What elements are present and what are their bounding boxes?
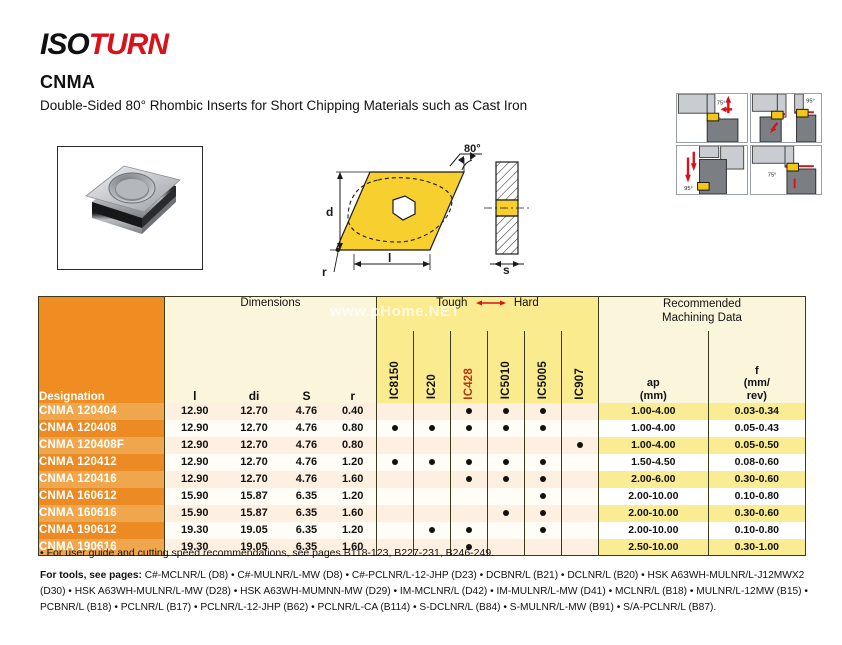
cell-grade-ic5005 <box>524 420 561 437</box>
grade-available-dot <box>577 442 583 448</box>
brand-logo-iso: ISO <box>40 28 89 61</box>
cell-dim-r: 0.80 <box>329 437 376 454</box>
f-unit-line2: rev) <box>747 390 767 402</box>
cell-ap: 1.50-4.50 <box>598 454 708 471</box>
cell-dim-l: 19.30 <box>165 522 225 539</box>
cell-designation: CNMA 190612 <box>39 522 165 539</box>
tough-hard-arrow-icon <box>476 299 506 307</box>
cell-f: 0.05-0.50 <box>708 437 805 454</box>
table-row: CNMA 120408F12.9012.704.760.801.00-4.000… <box>39 437 806 454</box>
table-row: CNMA 12040412.9012.704.760.401.00-4.000.… <box>39 403 806 420</box>
cell-dim-di: 15.87 <box>225 488 284 505</box>
col-header-s: S <box>284 331 330 403</box>
cell-dim-s: 4.76 <box>284 471 330 488</box>
cell-grade-ic5010 <box>487 471 524 488</box>
f-symbol: f <box>755 365 759 377</box>
machining-data-line2: Machining Data <box>662 312 742 324</box>
grade-available-dot <box>540 408 546 414</box>
grade-available-dot <box>503 459 509 465</box>
cell-grade-ic907 <box>561 505 598 522</box>
tool-app-2-icon: 95° <box>751 94 821 142</box>
cell-dim-di: 19.05 <box>225 522 284 539</box>
cell-grade-ic20 <box>413 505 450 522</box>
cell-dim-s: 4.76 <box>284 420 330 437</box>
cell-grade-ic907 <box>561 488 598 505</box>
diagram-label-d: d <box>326 205 333 219</box>
cell-dim-s: 4.76 <box>284 454 330 471</box>
diagram-label-r: r <box>322 265 327 279</box>
cell-grade-ic5005 <box>524 454 561 471</box>
grade-available-dot <box>503 510 509 516</box>
footnote-user-guide: • For user guide and cutting speed recom… <box>40 547 494 559</box>
grade-available-dot <box>466 425 472 431</box>
cell-ap: 1.00-4.00 <box>598 420 708 437</box>
cell-dim-di: 15.87 <box>225 505 284 522</box>
cell-f: 0.30-0.60 <box>708 471 805 488</box>
tool-app-1-icon: 75° <box>677 94 747 142</box>
page-title: CNMA <box>40 72 527 93</box>
table-row: CNMA 19061219.3019.056.351.202.00-10.000… <box>39 522 806 539</box>
grade-label-ic907: IC907 <box>574 368 586 400</box>
cell-grade-ic428 <box>450 471 487 488</box>
col-header-ap: ap (mm) <box>598 331 708 403</box>
col-group-grades: Tough Hard <box>376 297 598 331</box>
tool-app-3-icon: 95° <box>677 146 747 194</box>
col-group-machining-data: Recommended Machining Data <box>598 297 805 331</box>
grade-available-dot <box>540 510 546 516</box>
cell-dim-di: 12.70 <box>225 420 284 437</box>
cell-grade-ic428 <box>450 488 487 505</box>
cell-grade-ic5005 <box>524 437 561 454</box>
cell-grade-ic5010 <box>487 403 524 420</box>
cell-dim-l: 12.90 <box>165 471 225 488</box>
cell-dim-l: 12.90 <box>165 437 225 454</box>
cell-ap: 2.50-10.00 <box>598 539 708 556</box>
footnote-tools-label: For tools, see pages: <box>40 570 142 581</box>
tool-app-4-angle: 75° <box>768 173 777 179</box>
cell-f: 0.05-0.43 <box>708 420 805 437</box>
cell-grade-ic5010 <box>487 437 524 454</box>
tool-app-4: 75° <box>750 145 822 195</box>
cell-dim-l: 12.90 <box>165 420 225 437</box>
grade-label-ic428: IC428 <box>463 368 475 400</box>
cell-designation: CNMA 120404 <box>39 403 165 420</box>
grade-available-dot <box>466 527 472 533</box>
cell-f: 0.08-0.60 <box>708 454 805 471</box>
cell-f: 0.30-1.00 <box>708 539 805 556</box>
table-row: CNMA 12041212.9012.704.761.201.50-4.500.… <box>39 454 806 471</box>
cell-dim-r: 0.80 <box>329 420 376 437</box>
brand-logo-turn: TURN <box>89 28 168 61</box>
cell-ap: 1.00-4.00 <box>598 403 708 420</box>
table-head: Designation Dimensions Tough Hard Recomm… <box>39 297 806 403</box>
col-header-f: f (mm/ rev) <box>708 331 805 403</box>
cell-designation: CNMA 120416 <box>39 471 165 488</box>
col-header-grade-ic5010: IC5010 <box>487 331 524 403</box>
col-header-grade-ic8150: IC8150 <box>376 331 413 403</box>
cell-grade-ic428 <box>450 505 487 522</box>
table-row: CNMA 12041612.9012.704.761.602.00-6.000.… <box>39 471 806 488</box>
cell-ap: 2.00-10.00 <box>598 505 708 522</box>
grade-available-dot <box>540 425 546 431</box>
grade-available-dot <box>503 425 509 431</box>
cell-grade-ic8150 <box>376 505 413 522</box>
cell-dim-r: 1.20 <box>329 522 376 539</box>
grade-label-ic5005: IC5005 <box>537 361 549 399</box>
cell-grade-ic5010 <box>487 488 524 505</box>
cell-f: 0.30-0.60 <box>708 505 805 522</box>
cell-grade-ic428 <box>450 522 487 539</box>
cell-designation: CNMA 120408 <box>39 420 165 437</box>
grade-available-dot <box>429 425 435 431</box>
table-header-group-row: Designation Dimensions Tough Hard Recomm… <box>39 297 806 331</box>
grade-available-dot <box>466 408 472 414</box>
tool-app-2: 95° <box>750 93 822 143</box>
cell-grade-ic8150 <box>376 454 413 471</box>
grade-available-dot <box>429 527 435 533</box>
footnote-tools-text: C#-MCLNR/L (D8) • C#-MULNR/L-MW (D8) • C… <box>40 570 808 613</box>
cell-dim-di: 12.70 <box>225 471 284 488</box>
cell-grade-ic907 <box>561 420 598 437</box>
cell-dim-di: 12.70 <box>225 403 284 420</box>
cell-dim-s: 6.35 <box>284 522 330 539</box>
table-row: CNMA 16061615.9015.876.351.602.00-10.000… <box>39 505 806 522</box>
cell-designation: CNMA 160616 <box>39 505 165 522</box>
insert-photo-image <box>64 156 196 260</box>
col-header-r: r <box>329 331 376 403</box>
cell-dim-r: 0.40 <box>329 403 376 420</box>
col-header-l: l <box>165 331 225 403</box>
tool-app-4-icon: 75° <box>751 146 821 194</box>
cell-grade-ic8150 <box>376 522 413 539</box>
grade-available-dot <box>503 408 509 414</box>
col-header-grade-ic20: IC20 <box>413 331 450 403</box>
cell-dim-l: 12.90 <box>165 403 225 420</box>
table-row: CNMA 12040812.9012.704.760.801.00-4.000.… <box>39 420 806 437</box>
cell-grade-ic907 <box>561 539 598 556</box>
cell-designation: CNMA 120412 <box>39 454 165 471</box>
insert-section-view-svg: s <box>470 150 560 275</box>
cell-grade-ic20 <box>413 454 450 471</box>
cell-dim-l: 12.90 <box>165 454 225 471</box>
insert-photo <box>57 146 203 270</box>
grade-available-dot <box>392 459 398 465</box>
cell-grade-ic428 <box>450 454 487 471</box>
grade-available-dot <box>392 425 398 431</box>
ap-unit: (mm) <box>640 390 667 402</box>
grade-available-dot <box>540 493 546 499</box>
cell-dim-r: 1.60 <box>329 505 376 522</box>
cell-grade-ic20 <box>413 437 450 454</box>
cell-grade-ic907 <box>561 454 598 471</box>
cell-grade-ic20 <box>413 403 450 420</box>
cell-grade-ic907 <box>561 403 598 420</box>
cell-dim-di: 12.70 <box>225 437 284 454</box>
grade-available-dot <box>466 459 472 465</box>
cell-grade-ic20 <box>413 488 450 505</box>
cell-grade-ic907 <box>561 471 598 488</box>
cell-f: 0.10-0.80 <box>708 488 805 505</box>
ap-symbol: ap <box>647 377 660 389</box>
cell-grade-ic8150 <box>376 420 413 437</box>
cell-grade-ic5010 <box>487 454 524 471</box>
insert-section-view: s <box>470 150 560 275</box>
cell-grade-ic20 <box>413 420 450 437</box>
grade-group-tough: Tough <box>436 297 467 309</box>
cell-designation: CNMA 120408F <box>39 437 165 454</box>
cell-dim-l: 15.90 <box>165 488 225 505</box>
grade-label-ic20: IC20 <box>426 374 438 399</box>
grade-available-dot <box>540 527 546 533</box>
cell-ap: 1.00-4.00 <box>598 437 708 454</box>
cell-dim-r: 1.20 <box>329 454 376 471</box>
cell-dim-l: 15.90 <box>165 505 225 522</box>
cell-grade-ic5010 <box>487 522 524 539</box>
grade-available-dot <box>540 476 546 482</box>
col-group-dimensions: Dimensions <box>165 297 377 331</box>
cell-f: 0.10-0.80 <box>708 522 805 539</box>
brand-logo: ISOTURN <box>40 28 168 62</box>
cell-dim-r: 1.60 <box>329 471 376 488</box>
cell-grade-ic5010 <box>487 420 524 437</box>
tool-app-3: 95° <box>676 145 748 195</box>
col-header-designation: Designation <box>39 297 165 403</box>
cell-grade-ic8150 <box>376 471 413 488</box>
cell-grade-ic428 <box>450 437 487 454</box>
cell-designation: CNMA 160612 <box>39 488 165 505</box>
cell-ap: 2.00-6.00 <box>598 471 708 488</box>
grade-group-hard: Hard <box>514 297 539 309</box>
cell-grade-ic5005 <box>524 522 561 539</box>
cell-grade-ic20 <box>413 522 450 539</box>
cell-dim-s: 6.35 <box>284 505 330 522</box>
cell-grade-ic5005 <box>524 539 561 556</box>
cell-grade-ic8150 <box>376 403 413 420</box>
cell-grade-ic907 <box>561 522 598 539</box>
tool-app-2-angle: 95° <box>806 99 815 105</box>
cell-grade-ic20 <box>413 471 450 488</box>
cell-grade-ic5005 <box>524 471 561 488</box>
col-header-di: di <box>225 331 284 403</box>
cell-grade-ic5005 <box>524 488 561 505</box>
cell-grade-ic907 <box>561 437 598 454</box>
grade-label-ic5010: IC5010 <box>500 361 512 399</box>
diagram-label-s: s <box>503 263 510 275</box>
cell-grade-ic8150 <box>376 437 413 454</box>
cell-grade-ic5010 <box>487 505 524 522</box>
cell-grade-ic8150 <box>376 488 413 505</box>
cell-f: 0.03-0.34 <box>708 403 805 420</box>
grade-available-dot <box>540 459 546 465</box>
cell-dim-s: 6.35 <box>284 488 330 505</box>
machining-data-line1: Recommended <box>663 298 741 310</box>
cell-ap: 2.00-10.00 <box>598 522 708 539</box>
cell-grade-ic428 <box>450 403 487 420</box>
page-subtitle: Double-Sided 80° Rhombic Inserts for Sho… <box>40 98 527 113</box>
cell-dim-s: 4.76 <box>284 437 330 454</box>
f-unit-line1: (mm/ <box>744 377 770 389</box>
cell-dim-s: 4.76 <box>284 403 330 420</box>
cell-grade-ic428 <box>450 420 487 437</box>
tool-app-3-angle: 95° <box>684 186 693 192</box>
cell-dim-di: 12.70 <box>225 454 284 471</box>
cell-dim-r: 1.20 <box>329 488 376 505</box>
grade-label-ic8150: IC8150 <box>389 361 401 399</box>
insert-catalog-table: Designation Dimensions Tough Hard Recomm… <box>38 296 806 556</box>
table-body: CNMA 12040412.9012.704.760.401.00-4.000.… <box>39 403 806 556</box>
table-row: CNMA 16061215.9015.876.351.202.00-10.000… <box>39 488 806 505</box>
footnote-tools: For tools, see pages: C#-MCLNR/L (D8) • … <box>40 568 830 615</box>
grade-available-dot <box>466 476 472 482</box>
grade-available-dot <box>429 459 435 465</box>
tool-app-1: 75° <box>676 93 748 143</box>
grade-available-dot <box>503 476 509 482</box>
cell-grade-ic5005 <box>524 505 561 522</box>
cell-ap: 2.00-10.00 <box>598 488 708 505</box>
diagram-label-l: l <box>388 251 391 265</box>
cell-grade-ic5005 <box>524 403 561 420</box>
col-header-grade-ic907: IC907 <box>561 331 598 403</box>
title-block: CNMA Double-Sided 80° Rhombic Inserts fo… <box>40 72 527 113</box>
col-header-grade-ic5005: IC5005 <box>524 331 561 403</box>
tool-application-diagrams: 75° 95° 9 <box>676 93 822 195</box>
col-header-grade-ic428: IC428 <box>450 331 487 403</box>
tool-app-1-angle: 75° <box>717 101 726 107</box>
